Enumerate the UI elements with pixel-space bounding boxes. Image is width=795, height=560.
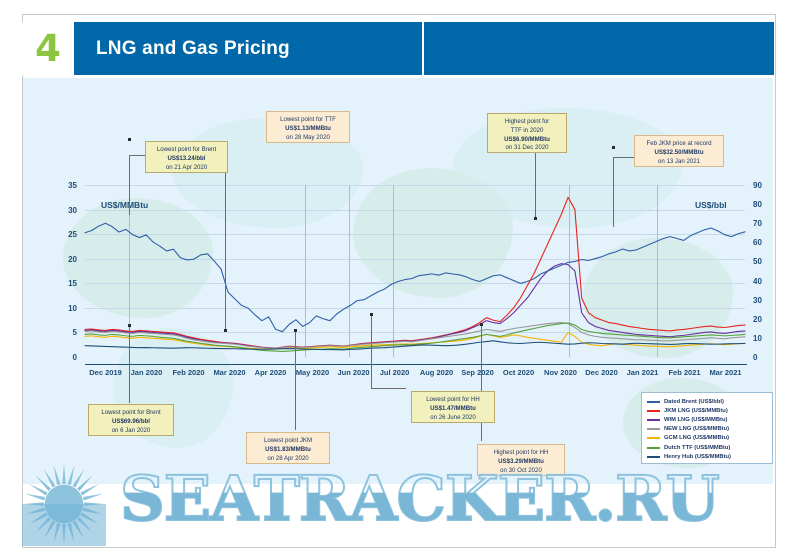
callout-ttf-high: Highest point for TTF in 2020 US$6.90/MM… <box>487 113 567 153</box>
chart-legend: Dated Brent (US$/bbl) JKM LNG (US$/MMBtu… <box>641 392 773 464</box>
leader-hh-low-horizontal <box>371 388 406 389</box>
y-tick-right-40: 40 <box>753 277 773 286</box>
plot-area <box>85 185 745 357</box>
legend-label: Henry Hub (US$/MMBtu) <box>664 454 731 460</box>
x-tick-oct2020: Oct 2020 <box>498 368 539 377</box>
legend-label: GCM LNG (US$/MMBtu) <box>664 435 729 441</box>
right-axis-label: US$/bbl <box>695 200 727 210</box>
callout-brent-low-jan: Lowest point for Brent US$69.96/bbl on 6… <box>88 404 174 436</box>
page-header: 4 LNG and Gas Pricing <box>22 22 774 75</box>
leader-brent-apr-vertical <box>129 155 130 215</box>
callout-line-1b: TTF in 2020 <box>491 127 563 136</box>
leader-jkm-record-vertical <box>613 157 614 227</box>
leader-hh-low-vertical <box>371 314 372 388</box>
series-line <box>85 341 745 350</box>
callout-hh-high: Highest point for HH US$3.29/MMBtu on 30… <box>477 444 565 476</box>
y-tick-left-20: 20 <box>55 255 77 264</box>
left-axis-label: US$/MMBtu <box>101 200 148 210</box>
callout-brent-low-apr: Lowest point for Brent US$13.24/bbl on 2… <box>145 141 228 173</box>
y-tick-left-30: 30 <box>55 206 77 215</box>
callout-line-1: Lowest point for HH <box>415 396 491 405</box>
x-tick-jan2020: Jan 2020 <box>126 368 167 377</box>
marker-brent-apr <box>128 138 131 141</box>
legend-item-wim-lng: WIM LNG (US$/MMBtu) <box>647 415 767 424</box>
page-title: LNG and Gas Pricing <box>74 38 290 60</box>
legend-label: Dutch TTF (US$/MMBtu) <box>664 445 730 451</box>
marker-ttf-high <box>534 217 537 220</box>
y-tick-right-50: 50 <box>753 257 773 266</box>
x-tick-nov2020: Nov 2020 <box>540 368 581 377</box>
leader-hh-high-vertical <box>481 324 482 441</box>
y-tick-right-90: 90 <box>753 181 773 190</box>
x-tick-aug2020: Aug 2020 <box>416 368 457 377</box>
series-line <box>85 197 745 348</box>
callout-line-1: Lowest point for TTF <box>270 116 346 125</box>
callout-line-3: on 28 Apr 2020 <box>250 455 326 464</box>
callout-value: US$69.96/bbl <box>92 418 170 427</box>
x-tick-jan2021: Jan 2021 <box>622 368 663 377</box>
callout-line-3: on 6 Jan 2020 <box>92 427 170 436</box>
callout-line-1: Feb JKM price at record <box>638 140 720 149</box>
y-tick-left-25: 25 <box>55 230 77 239</box>
callout-line-3: on 31 Dec 2020 <box>491 144 563 153</box>
callout-value: US$1.47/MMBtu <box>415 405 491 414</box>
marker-hh-low <box>370 313 373 316</box>
x-tick-mar2021: Mar 2021 <box>705 368 746 377</box>
y-tick-left-35: 35 <box>55 181 77 190</box>
callout-value: US$13.24/bbl <box>149 155 224 164</box>
marker-brent-jan <box>128 324 131 327</box>
callout-line-3: on 26 June 2020 <box>415 414 491 423</box>
callout-line-3: on 13 Jan 2021 <box>638 158 720 167</box>
callout-line-3: on 28 May 2020 <box>270 134 346 143</box>
callout-line-3: on 21 Apr 2020 <box>149 164 224 173</box>
x-tick-feb2021: Feb 2021 <box>664 368 705 377</box>
legend-swatch-icon <box>647 437 660 439</box>
callout-line-1: Highest point for <box>491 118 563 127</box>
callout-value: US$1.13/MMBtu <box>270 125 346 134</box>
callout-line-3: on 30 Oct 2020 <box>481 467 561 476</box>
legend-item-henry-hub: Henry Hub (US$/MMBtu) <box>647 452 767 461</box>
callout-line-1: Lowest point JKM <box>250 437 326 446</box>
y-tick-right-30: 30 <box>753 296 773 305</box>
callout-value: US$3.29/MMBtu <box>481 458 561 467</box>
callout-line-1: Highest point for HH <box>481 449 561 458</box>
title-bar: LNG and Gas Pricing <box>74 22 422 75</box>
callout-jkm-low: Lowest point JKM US$1.83/MMBtu on 28 Apr… <box>246 432 330 464</box>
marker-hh-high <box>480 323 483 326</box>
leader-jkm-low-vertical <box>295 330 296 430</box>
legend-label: NEW LNG (US$/MMBtu) <box>664 426 729 432</box>
section-number-box: 4 <box>22 22 74 75</box>
legend-label: WIM LNG (US$/MMBtu) <box>664 417 727 423</box>
legend-swatch-icon <box>647 419 660 421</box>
callout-jkm-record: Feb JKM price at record US$32.50/MMBtu o… <box>634 135 724 167</box>
legend-swatch-icon <box>647 428 660 430</box>
legend-swatch-icon <box>647 456 660 458</box>
leader-brent-jan-vertical <box>129 324 130 403</box>
series-line <box>85 223 745 331</box>
legend-swatch-icon <box>647 447 660 449</box>
leader-ttf-low-vertical <box>225 155 226 330</box>
legend-item-jkm-lng: JKM LNG (US$/MMBtu) <box>647 406 767 415</box>
legend-item-new-lng: NEW LNG (US$/MMBtu) <box>647 425 767 434</box>
y-tick-left-15: 15 <box>55 279 77 288</box>
y-tick-right-0: 0 <box>753 353 773 362</box>
x-tick-dec2020: Dec 2020 <box>581 368 622 377</box>
x-tick-mar2020: Mar 2020 <box>209 368 250 377</box>
y-tick-right-60: 60 <box>753 238 773 247</box>
legend-label: JKM LNG (US$/MMBtu) <box>664 408 728 414</box>
x-tick-sep2020: Sep 2020 <box>457 368 498 377</box>
callout-value: US$6.90/MMBtu <box>491 136 563 145</box>
y-tick-left-10: 10 <box>55 304 77 313</box>
legend-label: Dated Brent (US$/bbl) <box>664 399 724 405</box>
callout-ttf-low: Lowest point for TTF US$1.13/MMBtu on 28… <box>266 111 350 143</box>
title-bar-extension <box>424 22 774 75</box>
y-tick-left-5: 5 <box>55 328 77 337</box>
x-tick-dec2019: Dec 2019 <box>85 368 126 377</box>
x-tick-feb2020: Feb 2020 <box>168 368 209 377</box>
callout-value: US$1.83/MMBtu <box>250 446 326 455</box>
y-tick-left-0: 0 <box>55 353 77 362</box>
x-tick-jun2020: Jun 2020 <box>333 368 374 377</box>
x-axis-line <box>85 364 747 365</box>
y-tick-right-10: 10 <box>753 334 773 343</box>
callout-line-1: Lowest point for Brent <box>92 409 170 418</box>
legend-item-dutch-ttf: Dutch TTF (US$/MMBtu) <box>647 443 767 452</box>
x-tick-may2020: May 2020 <box>292 368 333 377</box>
y-tick-right-80: 80 <box>753 200 773 209</box>
section-number: 4 <box>35 30 61 67</box>
marker-ttf-low <box>224 329 227 332</box>
legend-swatch-icon <box>647 401 660 403</box>
legend-swatch-icon <box>647 410 660 412</box>
marker-jkm-low <box>294 329 297 332</box>
legend-item-dated-brent: Dated Brent (US$/bbl) <box>647 397 767 406</box>
marker-jkm-record <box>612 146 615 149</box>
y-tick-right-70: 70 <box>753 219 773 228</box>
page-root: 4 LNG and Gas Pricing <box>0 0 795 560</box>
callout-value: US$32.50/MMBtu <box>638 149 720 158</box>
x-tick-jul2020: Jul 2020 <box>374 368 415 377</box>
x-tick-apr2020: Apr 2020 <box>250 368 291 377</box>
legend-item-gcm-lng: GCM LNG (US$/MMBtu) <box>647 434 767 443</box>
y-tick-right-20: 20 <box>753 315 773 324</box>
callout-line-1: Lowest point for Brent <box>149 146 224 155</box>
callout-hh-low: Lowest point for HH US$1.47/MMBtu on 26 … <box>411 391 495 423</box>
series-svg <box>85 185 745 357</box>
